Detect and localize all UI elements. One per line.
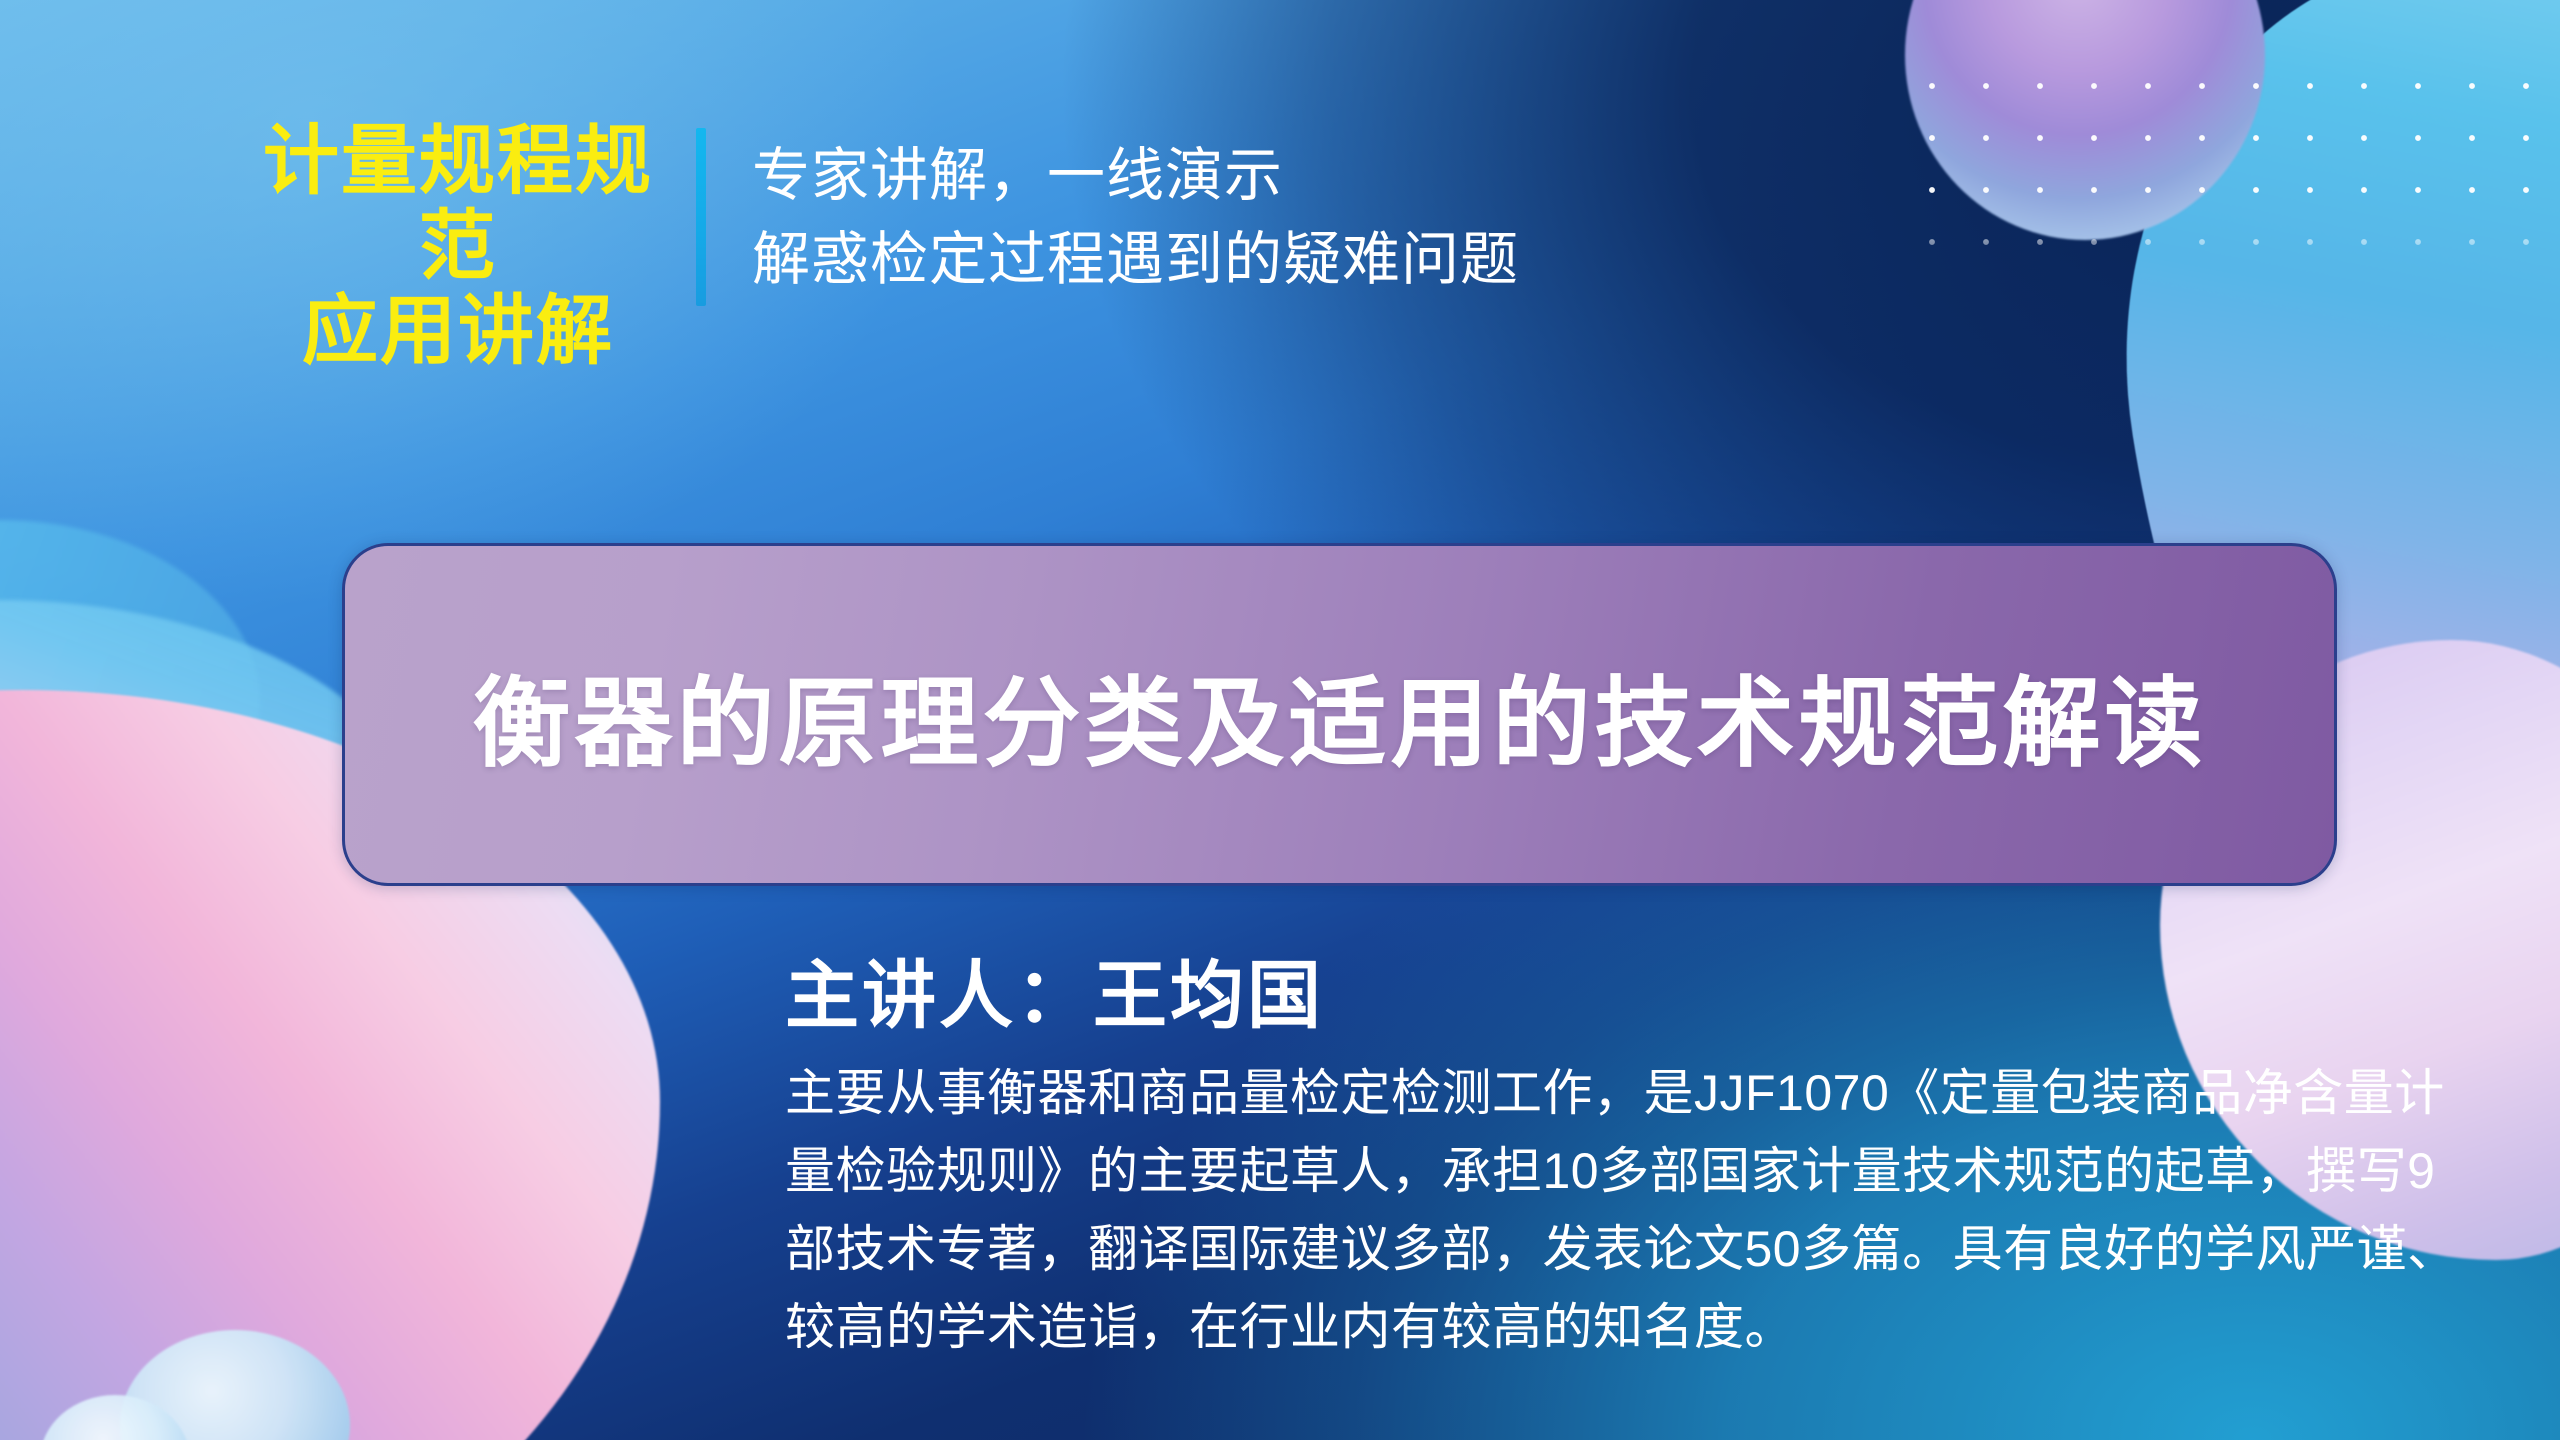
- presentation-slide: 计量规程规范 应用讲解 专家讲解，一线演示 解惑检定过程遇到的疑难问题 衡器的原…: [0, 0, 2560, 1440]
- small-bubble-blob-icon: [120, 1330, 350, 1440]
- header-tagline: 专家讲解，一线演示 解惑检定过程遇到的疑难问题: [752, 134, 1519, 301]
- brand-title: 计量规程规范 应用讲解: [258, 120, 658, 375]
- small-bubble-blob-icon-2: [40, 1395, 190, 1440]
- speaker-name: 主讲人：王均国: [785, 955, 2475, 1038]
- page-title: 衡器的原理分类及适用的技术规范解读: [472, 644, 2206, 786]
- dot-grid-pattern-icon: [1905, 60, 2560, 260]
- purple-sphere-blob-icon: [1905, 0, 2265, 240]
- slide-header: 计量规程规范 应用讲解 专家讲解，一线演示 解惑检定过程遇到的疑难问题: [258, 120, 1519, 375]
- title-pill: 衡器的原理分类及适用的技术规范解读: [342, 543, 2337, 886]
- speaker-block: 主讲人：王均国 主要从事衡器和商品量检定检测工作，是JJF1070《定量包装商品…: [785, 955, 2475, 1366]
- header-divider: [696, 128, 706, 306]
- left-crescent-blob-icon: [0, 520, 260, 850]
- speaker-bio: 主要从事衡器和商品量检定检测工作，是JJF1070《定量包装商品净含量计量检验规…: [785, 1054, 2475, 1366]
